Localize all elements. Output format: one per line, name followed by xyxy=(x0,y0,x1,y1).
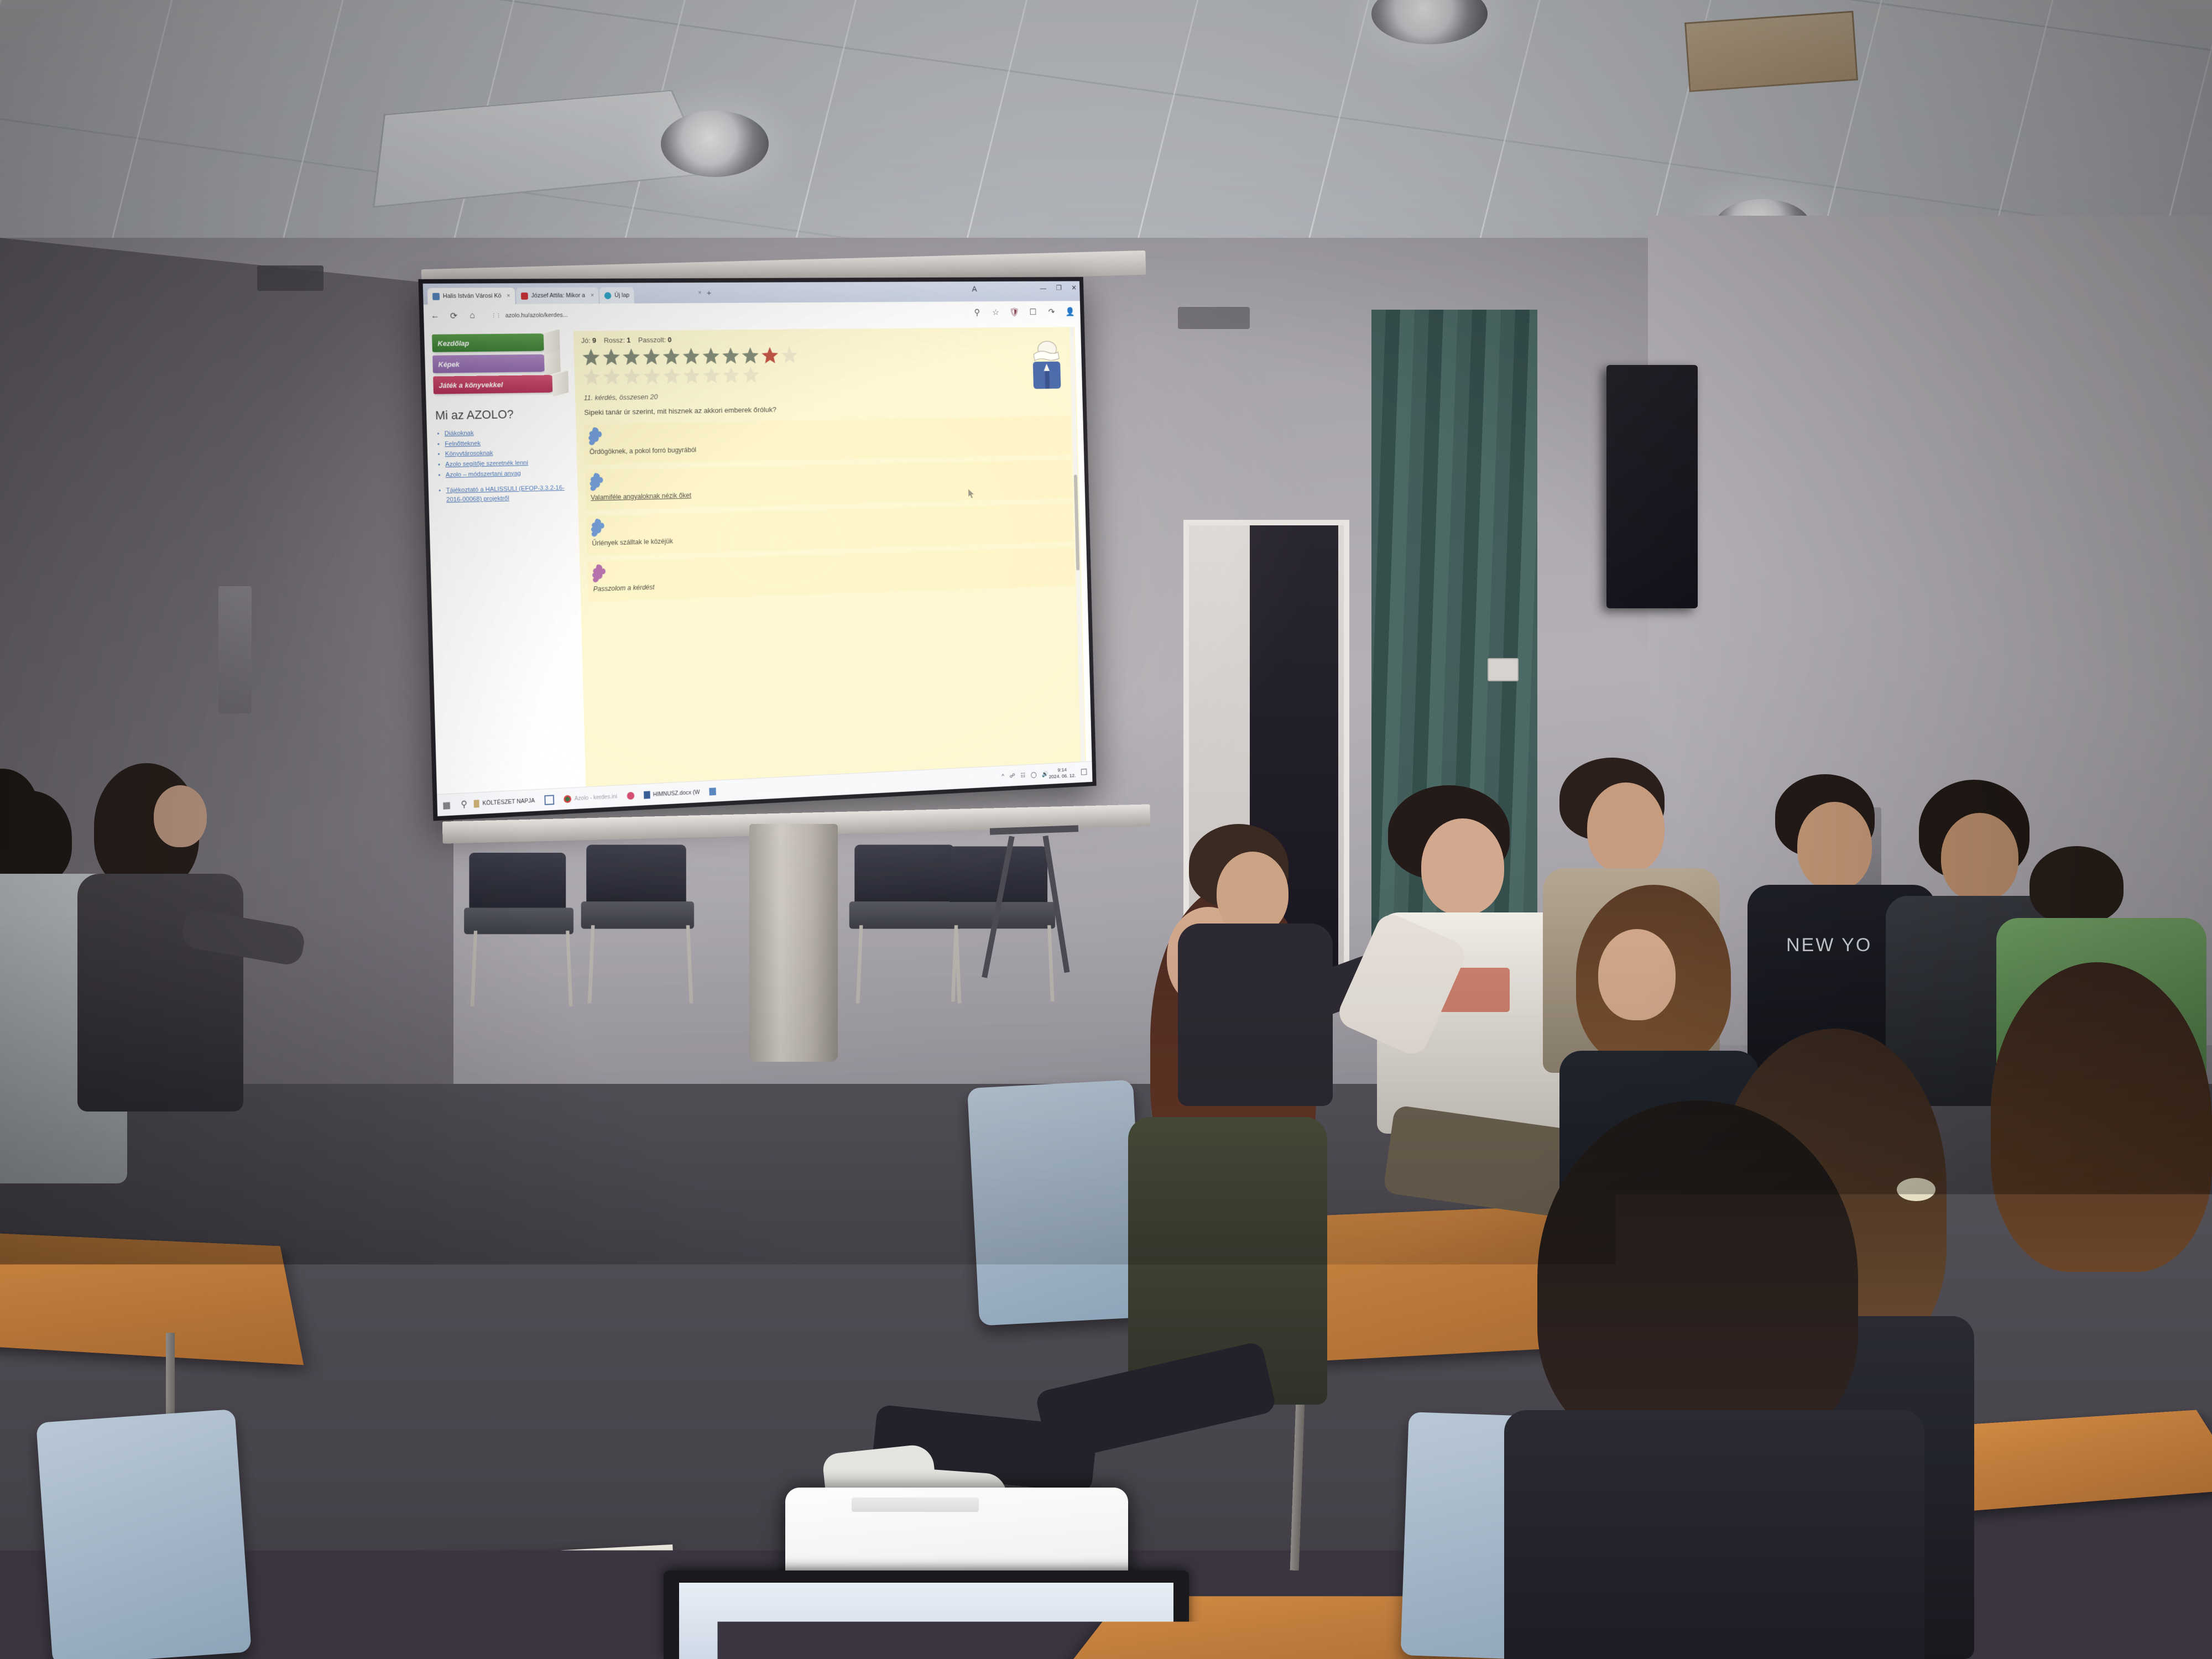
url-field[interactable]: ⋮⋮ azolo.hu/azolo/kerdes... xyxy=(486,306,964,322)
favorites-star-icon[interactable]: ☆ xyxy=(991,307,1000,317)
close-icon[interactable]: × xyxy=(507,293,510,299)
question-text: Sipeki tanár úr szerint, mit hisznek az … xyxy=(584,401,1070,416)
laptop[interactable] xyxy=(664,1571,1189,1659)
star-icon xyxy=(622,367,641,385)
browser-window: Halis István Városi Kö × József Attila: … xyxy=(423,281,1093,816)
puzzle-pin-icon xyxy=(591,563,607,585)
nav-book-kezdolap[interactable]: Kezdőlap xyxy=(432,333,546,352)
firefox-icon xyxy=(627,791,634,799)
volume-mute-icon[interactable]: 🔊 xyxy=(1042,770,1048,778)
star-icon xyxy=(702,366,721,385)
answer-option[interactable]: Ördögöknek, a pokol forró bugyrából xyxy=(583,416,1071,465)
taskbar-item-himnusz[interactable]: HIMNUSZ.docx (W xyxy=(639,788,705,799)
score-passed-label: Passzolt: xyxy=(638,336,666,344)
star-icon xyxy=(722,366,741,384)
link-label: Könyvtárosoknak xyxy=(445,450,493,458)
list-item[interactable]: Azolo segítője szeretnék lenni xyxy=(445,458,568,469)
link-label: Felnőtteknek xyxy=(445,440,481,447)
ceiling-access-hatch xyxy=(1684,11,1858,92)
link-label: Azolo – módszertani anyag xyxy=(446,470,521,478)
tab-label: József Attila: Mikor a xyxy=(531,292,585,299)
list-item[interactable]: Diákoknak xyxy=(445,427,568,439)
mascot-icon xyxy=(1025,338,1068,397)
taskbar-item-azolo[interactable]: Azolo - kerdes.ini xyxy=(559,792,622,804)
book-nav-stack: Kezdőlap Képek Játék a könyvekkel xyxy=(432,333,558,400)
projection-screen: Halis István Városi Kö × József Attila: … xyxy=(418,277,1096,821)
chair-legs xyxy=(951,925,1055,1001)
book-pages xyxy=(552,371,568,397)
nav-book-jatek[interactable]: Játék a könyvekkel xyxy=(433,375,555,394)
save-floppy-icon xyxy=(544,795,554,805)
star-icon xyxy=(622,347,641,366)
quiz-panel: Jó: 9 Rossz: 1 Passzolt: 0 11. kérdés, ö… xyxy=(573,327,1086,786)
shield-icon[interactable]: 🛡 xyxy=(1010,307,1019,317)
star-icon xyxy=(662,347,681,366)
link-label: Azolo segítője szeretnék lenni xyxy=(445,460,528,468)
taskbar-item-koltészet[interactable]: KÖLTÉSZET NAPJA xyxy=(469,796,540,807)
new-tab-button[interactable]: + xyxy=(707,288,712,298)
stacking-chair[interactable] xyxy=(581,845,702,1003)
network-icon[interactable]: ☷ xyxy=(1020,772,1025,779)
taskbar-item-save[interactable] xyxy=(540,794,559,805)
chair-back xyxy=(469,853,566,914)
window-controls: — ❐ ✕ xyxy=(1040,284,1077,292)
nav-label: Játék a könyvekkel xyxy=(439,380,503,389)
close-button[interactable]: ✕ xyxy=(1071,284,1077,292)
star-icon xyxy=(602,367,622,386)
star-icon xyxy=(602,347,621,366)
star-progress xyxy=(581,346,801,386)
star-icon xyxy=(662,367,681,385)
star-icon xyxy=(642,367,661,385)
collections-icon[interactable]: ☐ xyxy=(1029,307,1037,317)
chair-legs xyxy=(471,931,573,1006)
folder-icon xyxy=(432,293,440,300)
url-text: azolo.hu/azolo/kerdes... xyxy=(505,312,568,319)
photo-scene: Halis István Városi Kö × József Attila: … xyxy=(0,0,2212,1659)
tab-label: Halis István Városi Kö xyxy=(443,293,502,299)
star-icon xyxy=(641,347,661,366)
link-label: Tájékoztató a HALISSULI (EFOP-3.3.2-16-2… xyxy=(446,485,564,503)
stacking-chair[interactable] xyxy=(464,853,581,1005)
nav-label: Képek xyxy=(438,360,460,368)
light-switch[interactable] xyxy=(1488,658,1519,681)
search-icon[interactable]: ⚲ xyxy=(459,799,469,810)
maximize-button[interactable]: ❐ xyxy=(1056,284,1062,292)
scrollbar-thumb[interactable] xyxy=(1074,475,1080,571)
webpage: Kezdőlap Képek Játék a könyvekkel Mi az … xyxy=(424,323,1092,795)
laptop-screen xyxy=(679,1583,1173,1659)
list-item[interactable]: Felnőtteknek xyxy=(445,437,568,449)
taskbar-item-explorer[interactable] xyxy=(705,787,721,795)
taskbar-spacer xyxy=(721,776,1001,791)
wall-speaker xyxy=(1606,365,1698,608)
mouse-cursor-icon xyxy=(968,489,974,498)
answer-text: Valamiféle angyaloknak nézik őket xyxy=(591,483,1067,502)
score-bad-value: 1 xyxy=(627,336,630,345)
answer-option[interactable]: Űrlények szálltak le közéjük xyxy=(586,503,1074,556)
zoom-icon[interactable]: ⚲ xyxy=(972,308,982,317)
taskbar-item-label: KÖLTÉSZET NAPJA xyxy=(482,797,535,807)
browser-toolbar: ⚲ ☆ 🛡 ☐ ↷ 👤 xyxy=(972,307,1074,317)
projector-mount xyxy=(257,265,324,291)
page-title: Mi az AZOLO? xyxy=(435,406,567,423)
clock-date: 2024. 06. 12. xyxy=(1049,773,1076,780)
star-icon xyxy=(682,366,701,385)
taskbar-item-label: HIMNUSZ.docx (W xyxy=(653,789,700,797)
edge-icon xyxy=(604,292,612,299)
back-arrow-icon[interactable]: ← xyxy=(430,311,440,321)
taskbar-item-label: Azolo - kerdes.ini xyxy=(575,793,618,802)
system-tray: ^ ☍ ☷ ◯ 🔊 xyxy=(1001,770,1048,780)
sidebar-link-list: Diákoknak Felnőtteknek Könyvtárosoknak A… xyxy=(435,427,570,505)
star-icon xyxy=(701,347,721,365)
page-scrollbar[interactable] xyxy=(1070,327,1085,761)
answer-text: Űrlények szálltak le közéjük xyxy=(592,526,1068,547)
answer-option-pass[interactable]: Passzolom a kérdést xyxy=(587,547,1075,602)
star-icon xyxy=(780,346,799,364)
nav-book-kepek[interactable]: Képek xyxy=(432,354,547,373)
answer-text: Passzolom a kérdést xyxy=(593,570,1070,593)
youtube-icon xyxy=(521,292,528,299)
apps-icon: ⋮⋮ xyxy=(491,311,501,321)
puzzle-pin-icon xyxy=(588,472,604,494)
blue-chair[interactable] xyxy=(36,1409,252,1659)
profile-initial: A xyxy=(972,285,977,294)
home-icon[interactable]: ⌂ xyxy=(467,311,477,321)
book-pages xyxy=(544,350,561,376)
blue-chair[interactable] xyxy=(967,1079,1145,1326)
wall-bracket xyxy=(1178,307,1250,329)
taskbar-item-firefox[interactable] xyxy=(622,791,639,800)
star-icon xyxy=(581,348,601,367)
explorer-icon xyxy=(709,787,716,795)
windows-start-icon[interactable]: ▦ xyxy=(441,800,451,810)
share-icon[interactable]: ↷ xyxy=(1047,307,1056,317)
chevron-up-icon[interactable]: ^ xyxy=(1001,773,1004,780)
star-icon xyxy=(741,346,760,364)
reload-icon[interactable]: ⟳ xyxy=(448,311,458,321)
list-item[interactable]: Könyvtárosoknak xyxy=(445,447,568,459)
profile-icon[interactable]: 👤 xyxy=(1066,307,1074,316)
projector-vent xyxy=(852,1498,979,1512)
score-good-label: Jó: xyxy=(581,336,591,345)
minimize-button[interactable]: — xyxy=(1040,284,1046,292)
star-icon xyxy=(721,346,740,364)
media-player-icon xyxy=(564,795,571,803)
hair-tie xyxy=(1897,1178,1936,1201)
chair-back xyxy=(854,845,954,908)
close-icon[interactable]: × xyxy=(698,290,701,296)
ceiling-downlight xyxy=(661,111,769,177)
puzzle-pin-icon xyxy=(587,426,603,448)
hoodie-text: NEW YO xyxy=(1786,935,1897,957)
column xyxy=(749,824,838,1062)
site-sidebar: Kezdőlap Képek Játék a könyvekkel Mi az … xyxy=(424,327,583,794)
answer-option[interactable]: Valamiféle angyaloknak nézik őket xyxy=(585,460,1072,510)
star-icon xyxy=(582,367,602,386)
bluetooth-icon[interactable]: ☍ xyxy=(1010,773,1015,780)
score-row: Jó: 9 Rossz: 1 Passzolt: 0 xyxy=(581,332,1068,345)
word-icon xyxy=(644,791,650,799)
wifi-icon[interactable]: ◯ xyxy=(1031,771,1037,779)
chair-legs xyxy=(588,925,693,1003)
browser-tab-2[interactable]: József Attila: Mikor a × xyxy=(516,288,599,304)
puzzle-pin-icon xyxy=(589,518,606,540)
list-item[interactable]: Azolo – módszertani anyag xyxy=(446,468,569,479)
list-item[interactable]: Tájékoztató a HALISSULI (EFOP-3.3.2-16-2… xyxy=(446,484,569,505)
profile-chip[interactable]: A xyxy=(972,285,977,294)
taskbar-clock[interactable]: 9:14 2024. 06. 12. xyxy=(1048,766,1079,780)
star-icon xyxy=(760,346,779,364)
notification-icon[interactable]: ☐ xyxy=(1079,767,1088,777)
score-bad-label: Rossz: xyxy=(604,336,625,345)
score-passed-value: 0 xyxy=(667,336,671,344)
browser-tab-1[interactable]: Halis István Városi Kö × xyxy=(427,288,515,305)
star-icon xyxy=(681,347,701,366)
document-icon xyxy=(474,800,479,807)
close-icon[interactable]: × xyxy=(591,292,594,299)
question-progress: 11. kérdés, összesen 20 xyxy=(583,387,1070,402)
wall-lamp xyxy=(218,586,252,713)
score-good-value: 9 xyxy=(592,336,596,345)
answer-text: Ördögöknek, a pokol forró bugyrából xyxy=(589,439,1066,456)
star-icon xyxy=(742,366,760,384)
browser-tab-3[interactable]: Új lap xyxy=(599,287,634,304)
tab-label: Új lap xyxy=(614,292,629,299)
chair-back xyxy=(586,845,686,908)
wooden-table xyxy=(0,1232,304,1365)
nav-label: Kezdőlap xyxy=(437,339,469,347)
link-label: Diákoknak xyxy=(445,430,474,437)
